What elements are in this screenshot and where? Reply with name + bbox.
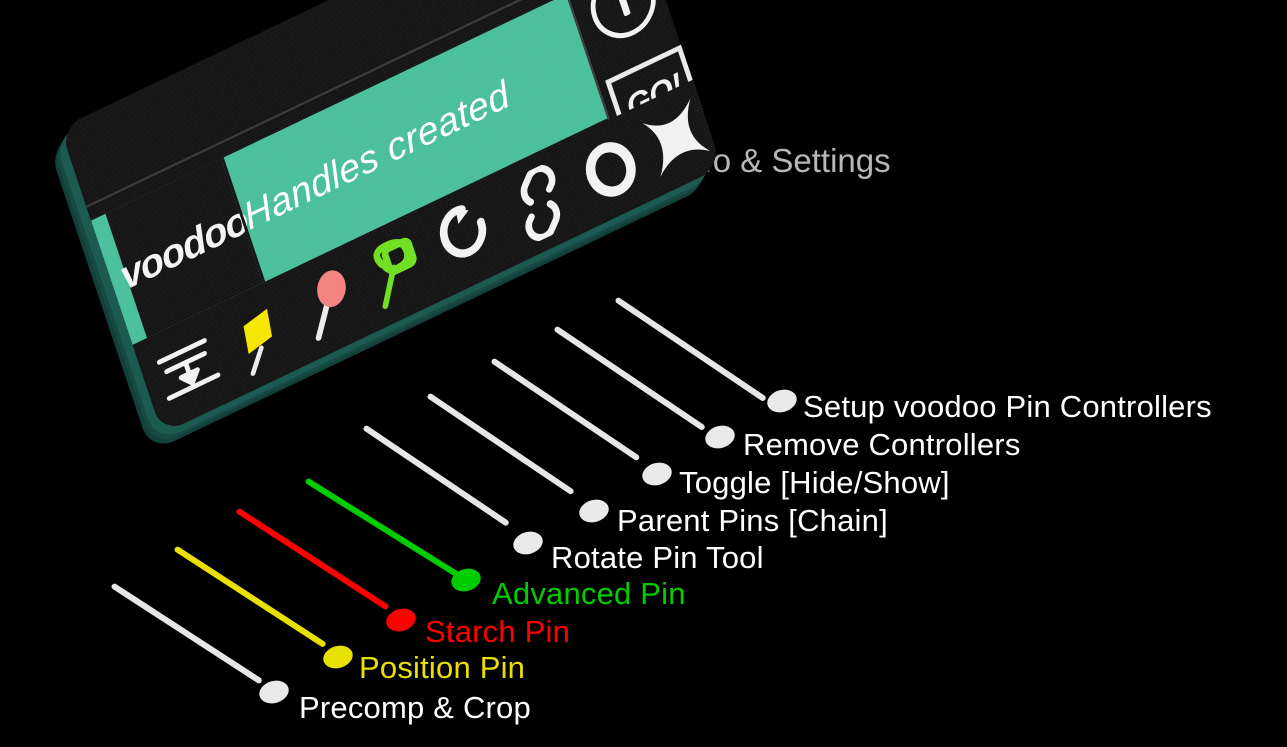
label-advanced-pin: Advanced Pin <box>492 576 686 612</box>
label-parent-pins: Parent Pins [Chain] <box>617 503 888 539</box>
leader-line-precomp-crop <box>110 582 263 684</box>
leader-dot-remove-controllers <box>703 422 738 451</box>
label-precomp-crop: Precomp & Crop <box>299 690 531 726</box>
annotated-panel-diagram: Live Help Info & Settings voodoo Handles… <box>0 0 1287 747</box>
leader-dot-setup-controllers <box>765 386 800 415</box>
label-toggle: Toggle [Hide/Show] <box>679 465 950 501</box>
leader-line-rotate-pin <box>362 425 510 527</box>
label-position-pin: Position Pin <box>359 650 525 686</box>
leader-dot-parent-pins <box>577 496 612 525</box>
leader-dot-toggle <box>640 459 675 488</box>
info-glyph <box>616 0 630 17</box>
label-starch-pin: Starch Pin <box>425 614 570 650</box>
label-setup-controllers: Setup voodoo Pin Controllers <box>803 389 1212 425</box>
leader-dot-precomp-crop <box>257 677 292 706</box>
leader-line-starch-pin <box>235 507 389 610</box>
info-circle-icon[interactable] <box>582 0 664 50</box>
leader-dot-position-pin <box>321 642 356 671</box>
label-rotate-pin: Rotate Pin Tool <box>551 540 764 576</box>
voodoo-panel: voodoo Handles created GO! <box>60 0 722 434</box>
leader-dot-rotate-pin <box>511 528 546 557</box>
leader-line-position-pin <box>173 545 326 648</box>
leader-dot-starch-pin <box>384 605 419 634</box>
label-remove-controllers: Remove Controllers <box>743 427 1021 463</box>
